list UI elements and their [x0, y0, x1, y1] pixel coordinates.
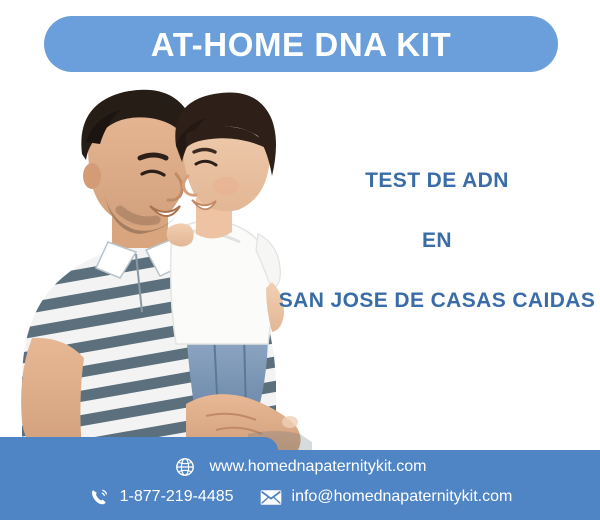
footer-website-row: www.homednapaternitykit.com [0, 456, 600, 478]
header-band: AT-HOME DNA KIT [0, 0, 600, 86]
poster-canvas: AT-HOME DNA KIT [0, 0, 600, 520]
email-contact[interactable]: info@homednapaternitykit.com [260, 486, 513, 508]
email-text[interactable]: info@homednapaternitykit.com [292, 489, 513, 505]
page-title: AT-HOME DNA KIT [151, 28, 451, 61]
headline-line-3: SAN JOSE DE CASAS CAIDAS [272, 290, 600, 311]
footer-contact-rows: www.homednapaternitykit.com 1-877-219-44… [0, 450, 600, 520]
phone-contact[interactable]: 1-877-219-4485 [88, 486, 234, 508]
header-pill: AT-HOME DNA KIT [44, 16, 558, 72]
phone-icon [88, 486, 110, 508]
phone-text[interactable]: 1-877-219-4485 [120, 489, 234, 505]
globe-icon [174, 456, 196, 478]
headline-line-2: EN [272, 230, 600, 251]
website-text[interactable]: www.homednapaternitykit.com [210, 459, 427, 475]
envelope-icon [260, 486, 282, 508]
photo-illustration [0, 82, 312, 450]
footer-contact-row: 1-877-219-4485 info@homednapaternitykit.… [0, 486, 600, 508]
headline-block: TEST DE ADN EN SAN JOSE DE CASAS CAIDAS [272, 150, 600, 320]
father-and-child-photo [0, 82, 312, 450]
headline-line-1: TEST DE ADN [272, 170, 600, 191]
